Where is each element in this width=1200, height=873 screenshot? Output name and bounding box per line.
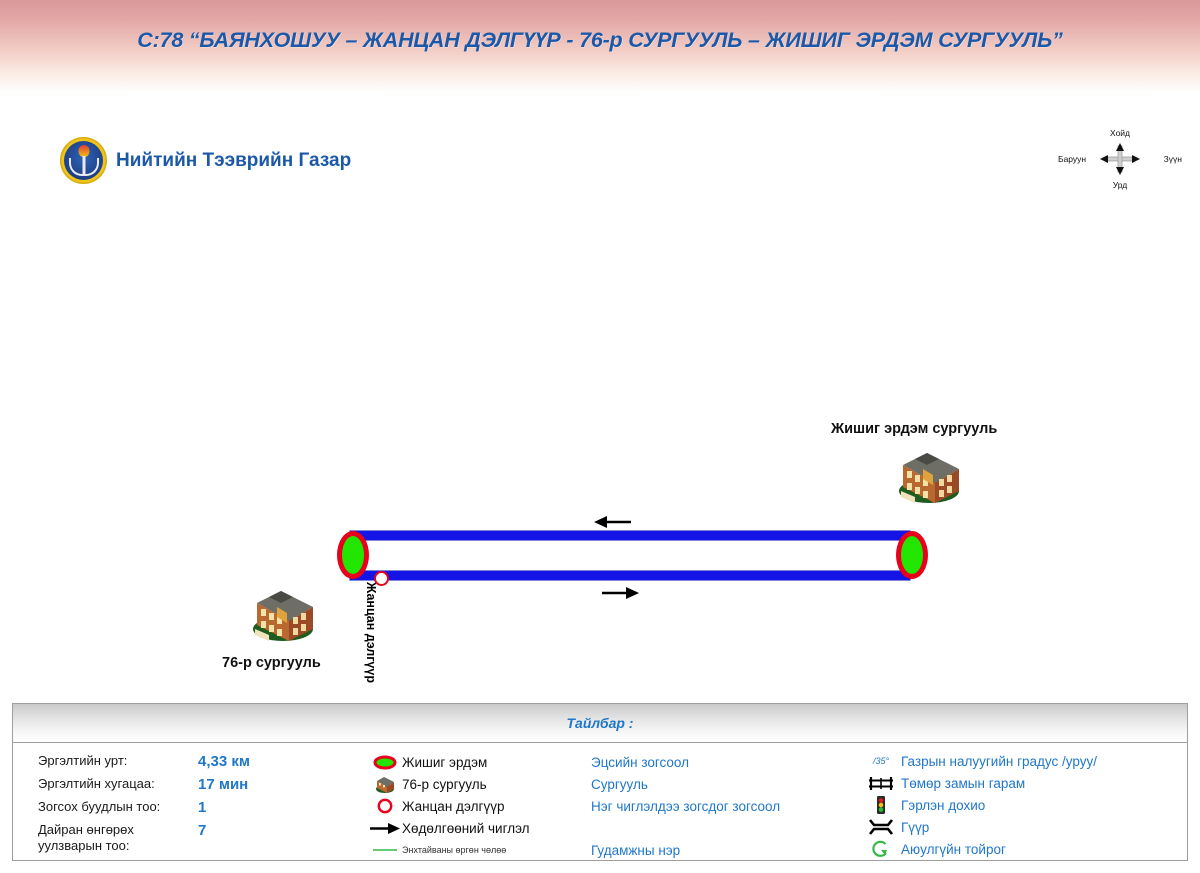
roundabout-icon [861,839,901,859]
stat-value: 7 [198,822,206,840]
arrow-left-icon [593,515,633,534]
arrow-right-icon [368,822,402,835]
legend-road-label: Аюулгүйн тойрог [901,842,1006,857]
railway-crossing-icon [861,775,901,792]
slope-degree-icon: /35° [861,756,901,766]
legend-symbol-list: Жишиг эрдэм 76-р сургууль [368,751,598,861]
legend-road-label: Гүүр [901,820,929,835]
legend-item-label: 76-р сургууль [402,777,487,792]
page-title: C:78 “БАЯНХОШУУ – ЖАНЦАН ДЭЛГҮҮР - 76-р … [0,28,1200,53]
school-building-icon [368,775,402,794]
stat-row: Зогсох буудлын тоо: 1 [38,799,338,817]
route-stats-list: Эргэлтийн урт: 4,33 км Эргэлтийн хугацаа… [38,753,338,859]
legend-item: Энхтайваны өргөн чөлөө [368,839,598,861]
stat-row: Дайран өнгөрөх уулзварын тоо: 7 [38,822,338,854]
compass-label-west: Баруун [1058,154,1086,164]
organization-branding: Нийтийн Тээврийн Газар [60,137,351,184]
legend-desc-row: Сургууль [591,773,851,795]
stat-row: Эргэлтийн урт: 4,33 км [38,753,338,771]
compass-rose: Хойд Урд Баруун Зүүн [1058,128,1182,190]
bridge-icon [861,818,901,836]
legend-road-item: Аюулгүйн тойрог [861,838,1181,860]
legend-body: Эргэлтийн урт: 4,33 км Эргэлтийн хугацаа… [13,743,1187,861]
compass-label-south: Урд [1113,180,1128,190]
legend-desc-row: Эцсийн зогсоол [591,751,851,773]
green-line-icon [368,847,402,853]
compass-rose-icon [1099,142,1141,176]
stop-label-jantsan-delguur: Жанцан дэлгүүр [364,582,378,683]
legend-road-symbol-list: /35° Газрын налуугийн градус /уруу/ Төмө… [861,750,1181,860]
legend-road-label: Гэрлэн дохио [901,798,985,813]
stat-value: 1 [198,799,206,817]
slope-degree-value: /35° [873,756,889,766]
legend-desc-row [591,817,851,839]
place-label-76-surguuli: 76-р сургууль [222,655,321,671]
stat-label: Дайран өнгөрөх уулзварын тоо: [38,822,198,854]
route-map: Жанцан дэлгүүр [0,190,1200,690]
legend-desc-label: Сургууль [591,777,648,792]
place-label-jishig-erdem: Жишиг эрдэм сургууль [831,421,997,437]
traffic-light-icon [861,795,901,815]
legend-item: Жанцан дэлгүүр [368,795,598,817]
terminal-stop-ellipse-icon-east[interactable] [896,531,928,579]
legend-panel: Тайлбар : Эргэлтийн урт: 4,33 км Эргэлти… [12,703,1188,861]
route-line-outbound [350,571,910,580]
stat-value: 4,33 км [198,753,250,771]
legend-header: Тайлбар : [13,704,1187,743]
legend-item: 76-р сургууль [368,773,598,795]
legend-road-item: /35° Газрын налуугийн градус /уруу/ [861,750,1181,772]
stat-value: 17 мин [198,776,248,794]
stat-label: Эргэлтийн хугацаа: [38,776,198,792]
legend-desc-label: Нэг чиглэлдээ зогсдог зогсоол [591,799,780,814]
one-way-stop-circle-icon [368,797,402,815]
stat-row: Эргэлтийн хугацаа: 17 мин [38,776,338,794]
legend-road-label: Төмөр замын гарам [901,776,1025,791]
legend-item-label: Энхтайваны өргөн чөлөө [402,845,506,855]
legend-description-list: Эцсийн зогсоол Сургууль Нэг чиглэлдээ зо… [591,751,851,861]
compass-label-north: Хойд [1110,128,1130,138]
public-transport-emblem-icon [60,137,107,184]
legend-item: Жишиг эрдэм [368,751,598,773]
stat-label: Зогсох буудлын тоо: [38,799,198,815]
legend-road-item: Төмөр замын гарам [861,772,1181,794]
school-building-icon-76 [247,583,319,645]
legend-road-label: Газрын налуугийн градус /уруу/ [901,754,1097,769]
stat-label: Эргэлтийн урт: [38,753,198,769]
legend-road-item: Гэрлэн дохио [861,794,1181,816]
terminal-stop-ellipse-icon [368,755,402,770]
compass-label-east: Зүүн [1164,154,1182,164]
legend-item: Хөдөлгөөний чиглэл [368,817,598,839]
terminal-stop-ellipse-icon-west[interactable] [337,531,369,579]
legend-desc-label: Эцсийн зогсоол [591,755,689,770]
legend-desc-row: Гудамжны нэр [591,839,851,861]
legend-desc-row: Нэг чиглэлдээ зогсдог зогсоол [591,795,851,817]
arrow-right-icon [600,586,640,605]
legend-item-label: Жанцан дэлгүүр [402,799,504,814]
school-building-icon-jishig-erdem [893,445,965,507]
organization-name: Нийтийн Тээврийн Газар [116,150,351,172]
legend-desc-label: Гудамжны нэр [591,843,680,858]
legend-road-item: Гүүр [861,816,1181,838]
legend-item-label: Жишиг эрдэм [402,755,487,770]
legend-title: Тайлбар : [567,715,634,731]
legend-item-label: Хөдөлгөөний чиглэл [402,821,530,836]
